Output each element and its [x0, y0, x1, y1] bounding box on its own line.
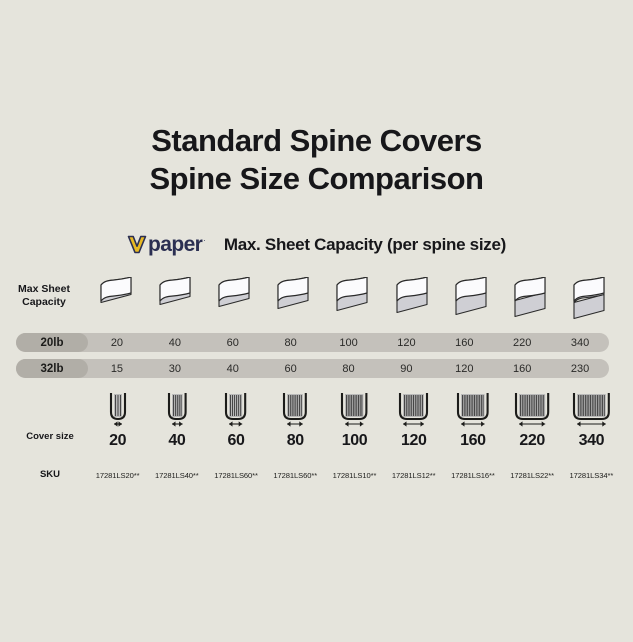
max-sheet-capacity-label-line-1: Max Sheet: [0, 283, 88, 296]
capacity-row-20lb: 20lb 20406080100120160220340: [16, 333, 609, 352]
sku-value: 17281LS12**: [384, 466, 443, 484]
spine-glyph-wrap: [508, 393, 556, 427]
capacity-value-32lb: 15: [88, 363, 146, 375]
capacity-value-32lb: 40: [204, 363, 262, 375]
capacity-value-20lb: 100: [320, 337, 378, 349]
brand-subtitle-row: paper · Max. Sheet Capacity (per spine s…: [0, 232, 633, 257]
max-sheet-capacity-label-line-2: Capacity: [0, 296, 88, 309]
sku-value: 17281LS10**: [325, 466, 384, 484]
capacity-value-32lb: 160: [493, 363, 551, 375]
sku-value: 17281LS60**: [206, 466, 265, 484]
capacity-value-32lb: 30: [146, 363, 204, 375]
capacity-value-20lb: 220: [493, 337, 551, 349]
weight-pill-20lb: 20lb: [16, 333, 88, 352]
sku-value: 17281LS60**: [266, 466, 325, 484]
paper-stack-icon: [266, 271, 325, 323]
capacity-value-32lb: 60: [262, 363, 320, 375]
spine-icon-row: [88, 379, 621, 427]
cover-size-value: 80: [266, 429, 325, 453]
spine-cell: [562, 379, 621, 427]
capacity-value-20lb: 160: [435, 337, 493, 349]
subtitle: Max. Sheet Capacity (per spine size): [224, 235, 506, 255]
sku-value: 17281LS20**: [88, 466, 147, 484]
spine-glyph-wrap: [103, 393, 133, 427]
spine-glyph-wrap: [161, 393, 194, 427]
spine-cell: [266, 379, 325, 427]
spine-cell: [443, 379, 502, 427]
capacity-value-20lb: 340: [551, 337, 609, 349]
paper-stack-icon: [88, 271, 147, 323]
spine-width-icon: [103, 393, 133, 427]
capacity-row-32lb: 32lb 153040608090120160230: [16, 359, 609, 378]
spine-width-icon: [276, 393, 314, 427]
sku-label: SKU: [0, 469, 100, 480]
capacity-value-32lb: 90: [377, 363, 435, 375]
cover-size-value: 120: [384, 429, 443, 453]
spine-glyph-wrap: [450, 393, 496, 427]
capacity-value-20lb: 60: [204, 337, 262, 349]
cover-size-value: 20: [88, 429, 147, 453]
cover-size-value: 160: [443, 429, 502, 453]
capacity-value-20lb: 120: [377, 337, 435, 349]
spine-width-icon: [161, 393, 194, 427]
vpaper-logo: paper ·: [127, 232, 206, 257]
spine-width-icon: [450, 393, 496, 427]
paper-stack-icon: [384, 271, 443, 323]
cover-size-label: Cover size: [0, 431, 100, 442]
sku-value: 17281LS22**: [503, 466, 562, 484]
spine-width-icon: [334, 393, 374, 427]
paper-stack-row: [88, 271, 621, 323]
spine-glyph-wrap: [566, 393, 617, 427]
paper-stack-icon: [562, 271, 621, 323]
spine-cell: [325, 379, 384, 427]
spine-glyph-wrap: [392, 393, 435, 427]
spine-width-icon: [508, 393, 556, 427]
capacity-value-20lb: 80: [262, 337, 320, 349]
spine-width-icon: [218, 393, 253, 427]
cover-size-value: 340: [562, 429, 621, 453]
cover-size-row: 20406080100120160220340: [88, 429, 621, 453]
spine-cell: [147, 379, 206, 427]
paper-stack-icon: [503, 271, 562, 323]
spine-glyph-wrap: [218, 393, 253, 427]
capacity-value-32lb: 80: [320, 363, 378, 375]
v-chevron-logo-icon: [127, 235, 147, 254]
logo-wordmark: paper: [148, 233, 202, 257]
page-title: Standard Spine Covers Spine Size Compari…: [0, 0, 633, 198]
spine-cell: [206, 379, 265, 427]
paper-stack-icon: [443, 271, 502, 323]
max-sheet-capacity-label: Max Sheet Capacity: [0, 283, 88, 309]
capacity-value-20lb: 40: [146, 337, 204, 349]
sku-value: 17281LS34**: [562, 466, 621, 484]
weight-pill-32lb: 32lb: [16, 359, 88, 378]
paper-stack-icon: [206, 271, 265, 323]
registered-mark-icon: ·: [203, 236, 206, 245]
paper-stack-icon: [325, 271, 384, 323]
spine-cell: [88, 379, 147, 427]
spine-cell: [384, 379, 443, 427]
spine-width-icon: [392, 393, 435, 427]
cover-size-value: 40: [147, 429, 206, 453]
cover-size-value: 100: [325, 429, 384, 453]
page-title-line-2: Spine Size Comparison: [0, 160, 633, 198]
capacity-value-20lb: 20: [88, 337, 146, 349]
sku-value: 17281LS16**: [443, 466, 502, 484]
spine-comparison-table: Max Sheet Capacity: [0, 271, 633, 511]
capacity-value-32lb: 120: [435, 363, 493, 375]
page-title-line-1: Standard Spine Covers: [0, 122, 633, 160]
spine-width-icon: [566, 393, 617, 427]
capacity-values-20lb: 20406080100120160220340: [88, 337, 609, 349]
cover-size-value: 220: [503, 429, 562, 453]
spine-cell: [503, 379, 562, 427]
paper-stack-icon: [147, 271, 206, 323]
capacity-value-32lb: 230: [551, 363, 609, 375]
capacity-values-32lb: 153040608090120160230: [88, 363, 609, 375]
sku-value: 17281LS40**: [147, 466, 206, 484]
spine-glyph-wrap: [334, 393, 374, 427]
cover-size-value: 60: [206, 429, 265, 453]
spine-glyph-wrap: [276, 393, 314, 427]
sku-row: 17281LS20**17281LS40**17281LS60**17281LS…: [88, 466, 621, 484]
